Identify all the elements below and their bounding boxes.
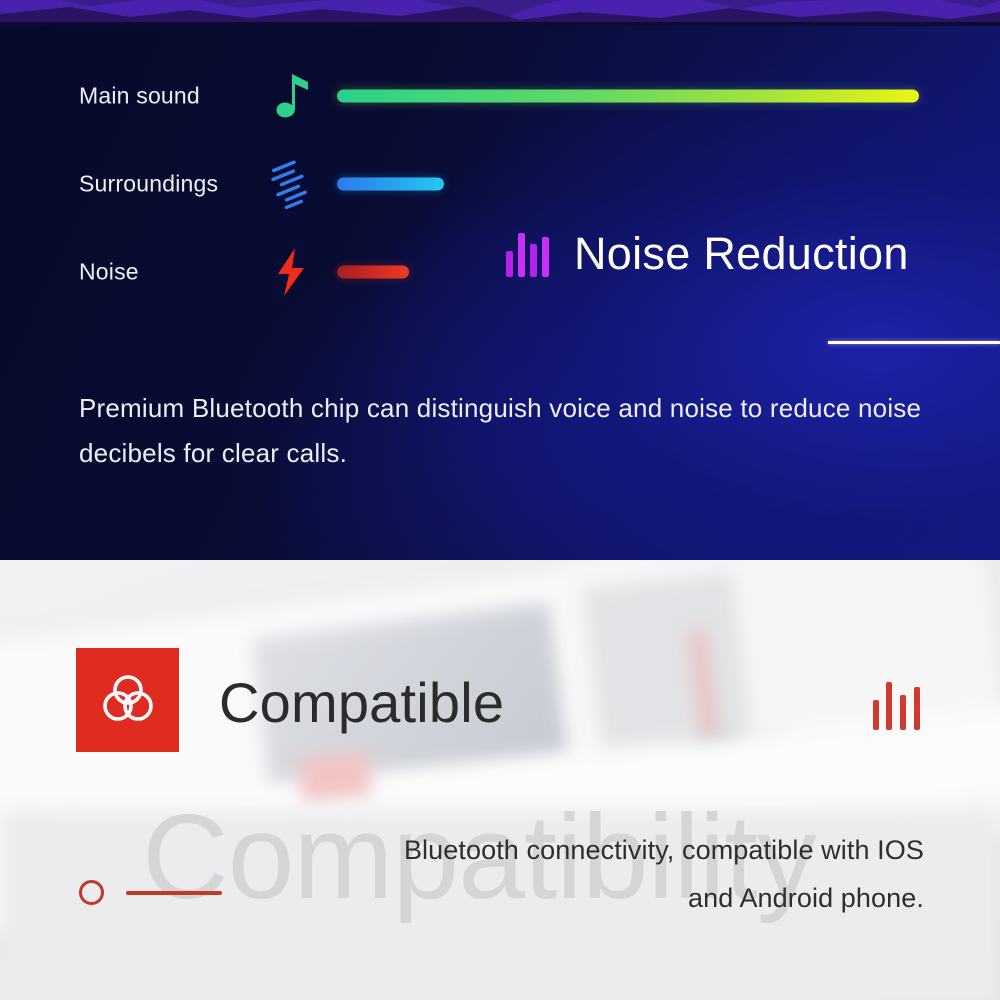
lightning-bolt-icon	[268, 246, 314, 298]
level-bar-surroundings	[337, 178, 444, 191]
equalizer-bars-icon	[871, 678, 927, 730]
compatible-panel	[0, 560, 1000, 1000]
row-label-main-sound: Main sound	[79, 83, 200, 110]
row-surroundings: Surroundings	[0, 140, 1000, 228]
noise-reduction-title: Noise Reduction	[574, 228, 909, 280]
row-main-sound: Main sound	[0, 52, 1000, 140]
noise-reduction-heading: Noise Reduction	[504, 228, 909, 280]
white-divider-line	[828, 341, 1000, 344]
compatible-badge	[76, 648, 179, 752]
sound-waves-icon	[268, 158, 314, 210]
equalizer-bars-icon	[504, 231, 552, 277]
mountain-silhouette-decoration	[0, 0, 1000, 26]
bullet-marker	[79, 880, 222, 905]
horizontal-rule-decoration	[126, 891, 222, 895]
compatible-title: Compatible	[219, 670, 504, 735]
level-bar-noise	[337, 266, 409, 279]
level-bar-main-sound	[337, 90, 919, 103]
row-label-surroundings: Surroundings	[79, 171, 218, 198]
three-overlapping-circles-icon	[97, 667, 159, 734]
product-feature-page: Main sound Surroundings	[0, 0, 1000, 1000]
music-note-icon	[268, 70, 314, 122]
circle-outline-icon	[79, 880, 104, 905]
compatible-description: Bluetooth connectivity, compatible with …	[352, 826, 924, 922]
row-label-noise: Noise	[79, 259, 139, 286]
noise-reduction-panel: Main sound Surroundings	[0, 0, 1000, 560]
noise-reduction-description: Premium Bluetooth chip can distinguish v…	[79, 386, 949, 476]
